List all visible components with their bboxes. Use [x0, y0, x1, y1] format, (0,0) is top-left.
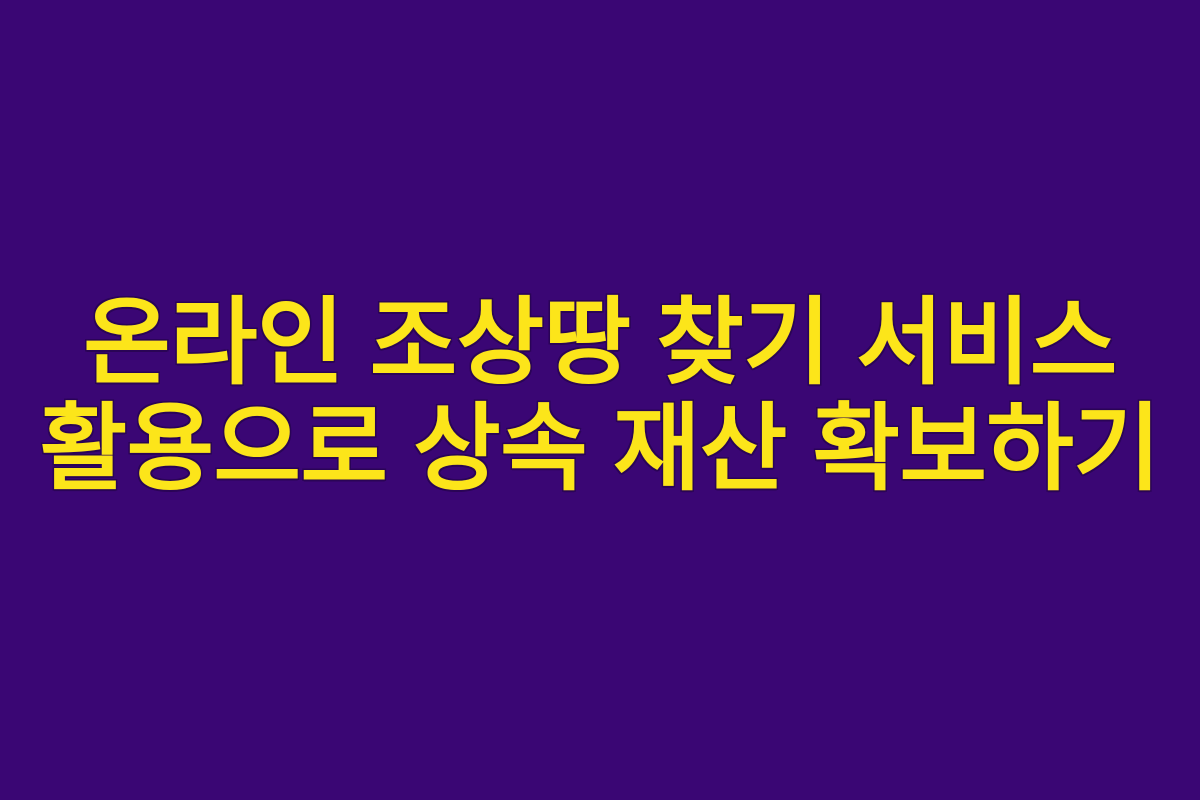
headline-line-1: 온라인 조상땅 찾기 서비스 — [0, 290, 1200, 396]
headline-line-2: 활용으로 상속 재산 확보하기 — [0, 396, 1200, 502]
headline-block: 온라인 조상땅 찾기 서비스 활용으로 상속 재산 확보하기 — [0, 0, 1200, 800]
title-card: 온라인 조상땅 찾기 서비스 활용으로 상속 재산 확보하기 — [0, 0, 1200, 800]
